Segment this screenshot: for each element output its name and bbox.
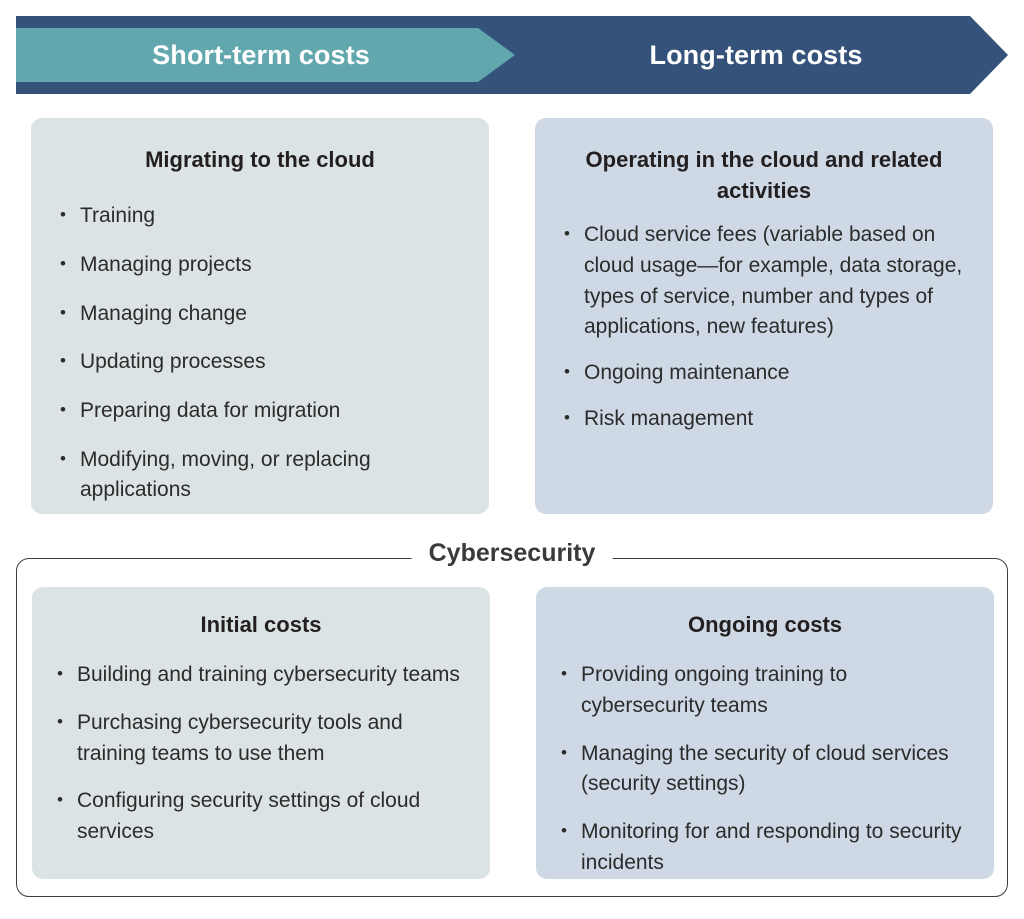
cybersecurity-cards-row: Initial costs Building and training cybe…: [32, 587, 994, 879]
list-item: Managing the security of cloud services …: [556, 739, 974, 800]
card-operating-in-the-cloud: Operating in the cloud and related activ…: [535, 118, 993, 514]
list-item: Monitoring for and responding to securit…: [556, 817, 974, 878]
list-item: Preparing data for migration: [53, 396, 467, 427]
cybersecurity-group: Cybersecurity Initial costs Building and…: [16, 558, 1008, 897]
list-item: Purchasing cybersecurity tools and train…: [52, 708, 470, 769]
top-cards-row: Migrating to the cloud Training Managing…: [31, 118, 993, 514]
list-item: Managing projects: [53, 250, 467, 281]
list-item: Building and training cybersecurity team…: [52, 660, 470, 691]
list-item: Risk management: [557, 404, 971, 435]
card-title: Ongoing costs: [556, 609, 974, 640]
list-item: Updating processes: [53, 347, 467, 378]
card-migrating-to-the-cloud: Migrating to the cloud Training Managing…: [31, 118, 489, 514]
cost-timeline-banner: Short-term costs Long-term costs: [0, 16, 1024, 94]
infographic-root: Short-term costs Long-term costs Migrati…: [0, 0, 1024, 919]
card-initial-costs: Initial costs Building and training cybe…: [32, 587, 490, 879]
card-title: Initial costs: [52, 609, 470, 640]
card-bullet-list: Cloud service fees (variable based on cl…: [557, 220, 971, 434]
card-bullet-list: Building and training cybersecurity team…: [52, 660, 470, 847]
card-ongoing-costs: Ongoing costs Providing ongoing training…: [536, 587, 994, 879]
list-item: Providing ongoing training to cybersecur…: [556, 660, 974, 721]
list-item: Cloud service fees (variable based on cl…: [557, 220, 971, 343]
card-bullet-list: Providing ongoing training to cybersecur…: [556, 660, 974, 878]
list-item: Ongoing maintenance: [557, 358, 971, 389]
list-item: Modifying, moving, or replacing applicat…: [53, 445, 467, 506]
long-term-costs-label: Long-term costs: [516, 16, 996, 94]
card-title: Operating in the cloud and related activ…: [557, 144, 971, 206]
list-item: Training: [53, 201, 467, 232]
list-item: Managing change: [53, 299, 467, 330]
card-title: Migrating to the cloud: [53, 144, 467, 175]
list-item: Configuring security settings of cloud s…: [52, 786, 470, 847]
short-term-costs-label: Short-term costs: [16, 16, 506, 94]
cybersecurity-legend-label: Cybersecurity: [412, 541, 613, 566]
card-bullet-list: Training Managing projects Managing chan…: [53, 201, 467, 506]
